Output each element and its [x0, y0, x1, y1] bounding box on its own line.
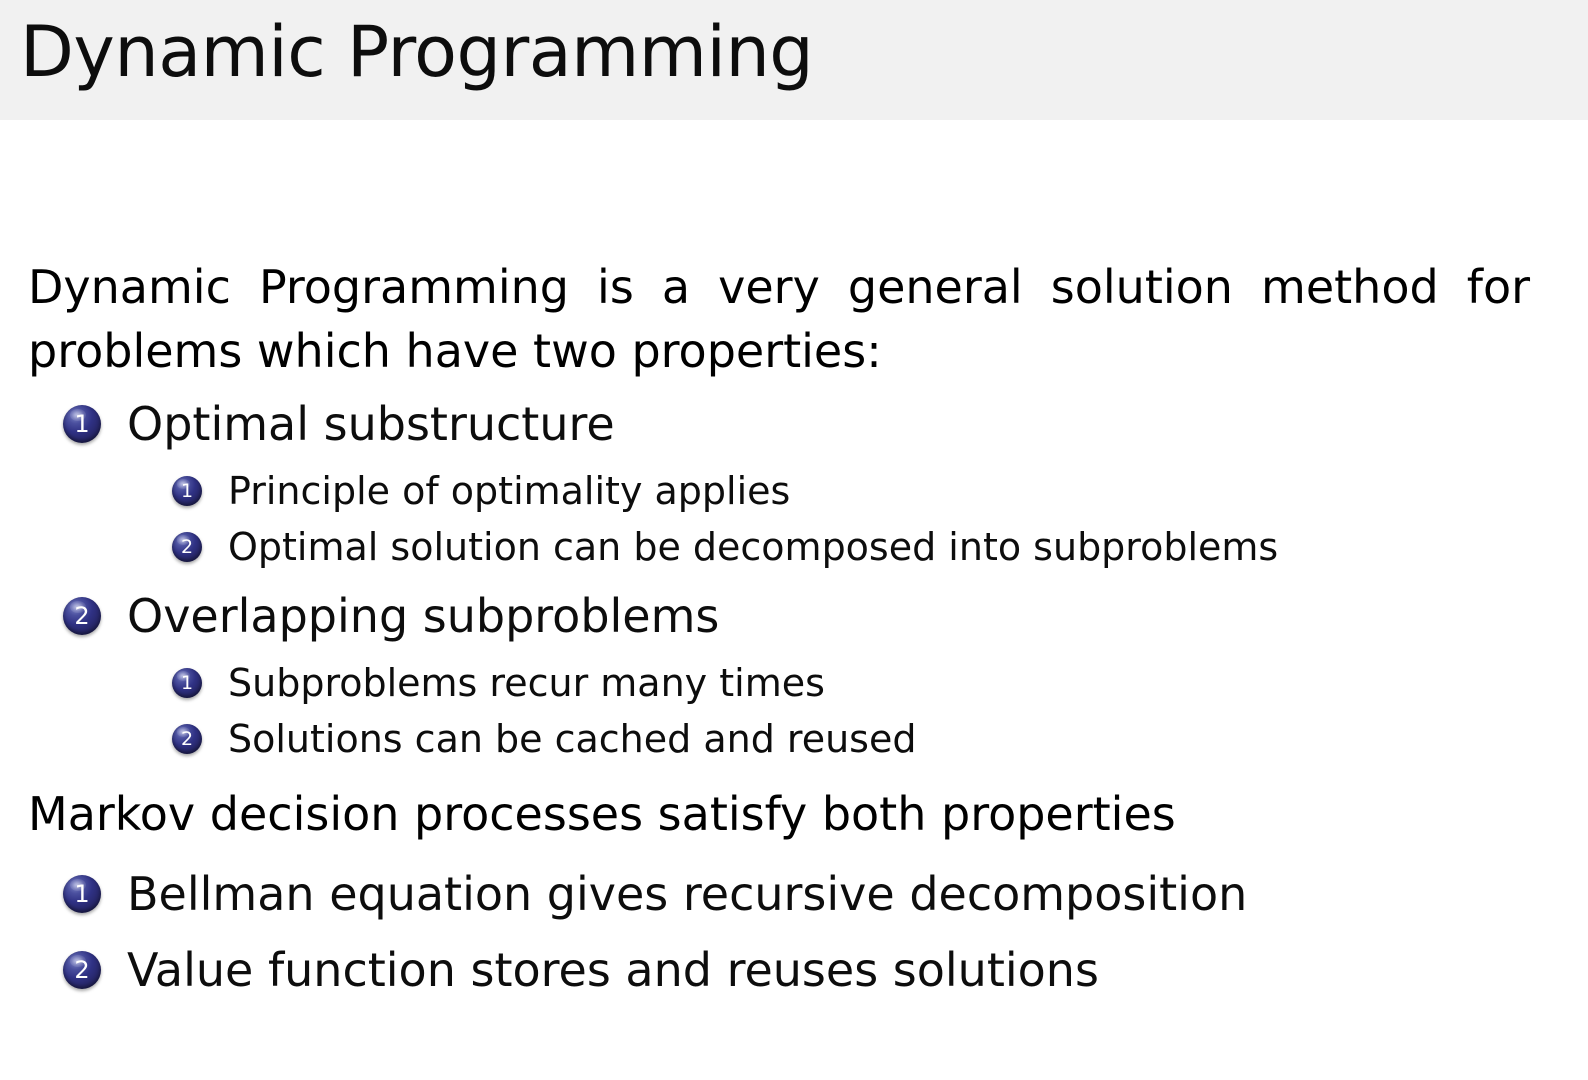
sub-list-item-label: Optimal solution can be decomposed into … — [228, 528, 1278, 566]
list-item-label: Bellman equation gives recursive decompo… — [127, 871, 1247, 917]
numbered-bullet-icon: 1 — [172, 668, 202, 698]
sub-list-item-label: Subproblems recur many times — [228, 664, 825, 702]
numbered-bullet-icon: 1 — [63, 405, 101, 443]
numbered-bullet-icon: 1 — [63, 875, 101, 913]
list-item-overlapping-subproblems[interactable]: 2 Overlapping subproblems — [0, 584, 719, 648]
sub-list-item-solutions-cached[interactable]: 2 Solutions can be cached and reused — [0, 713, 916, 765]
list-item-label: Value function stores and reuses solutio… — [127, 947, 1099, 993]
sub-list-item-label: Principle of optimality applies — [228, 472, 790, 510]
sub-list-item-label: Solutions can be cached and reused — [228, 720, 916, 758]
numbered-bullet-icon: 2 — [63, 597, 101, 635]
sub-list-item-principle-of-optimality[interactable]: 1 Principle of optimality applies — [0, 465, 790, 517]
slide-title-bar: Dynamic Programming — [0, 0, 1588, 120]
sub-list-item-subproblems-recur[interactable]: 1 Subproblems recur many times — [0, 657, 825, 709]
intro-paragraph: Dynamic Programming is a very general so… — [28, 255, 1530, 383]
list-item-bellman-equation[interactable]: 1 Bellman equation gives recursive decom… — [0, 862, 1247, 926]
list-item-value-function[interactable]: 2 Value function stores and reuses solut… — [0, 938, 1099, 1002]
list-item-optimal-substructure[interactable]: 1 Optimal substructure — [0, 392, 615, 456]
slide-content: Dynamic Programming is a very general so… — [0, 120, 1588, 1080]
sub-list-item-optimal-solution-decomposed[interactable]: 2 Optimal solution can be decomposed int… — [0, 521, 1278, 573]
numbered-bullet-icon: 2 — [172, 724, 202, 754]
numbered-bullet-icon: 1 — [172, 476, 202, 506]
numbered-bullet-icon: 2 — [63, 951, 101, 989]
list-item-label: Overlapping subproblems — [127, 593, 719, 639]
list-item-label: Optimal substructure — [127, 401, 615, 447]
page-title: Dynamic Programming — [20, 17, 813, 87]
mdp-paragraph: Markov decision processes satisfy both p… — [28, 782, 1530, 846]
numbered-bullet-icon: 2 — [172, 532, 202, 562]
